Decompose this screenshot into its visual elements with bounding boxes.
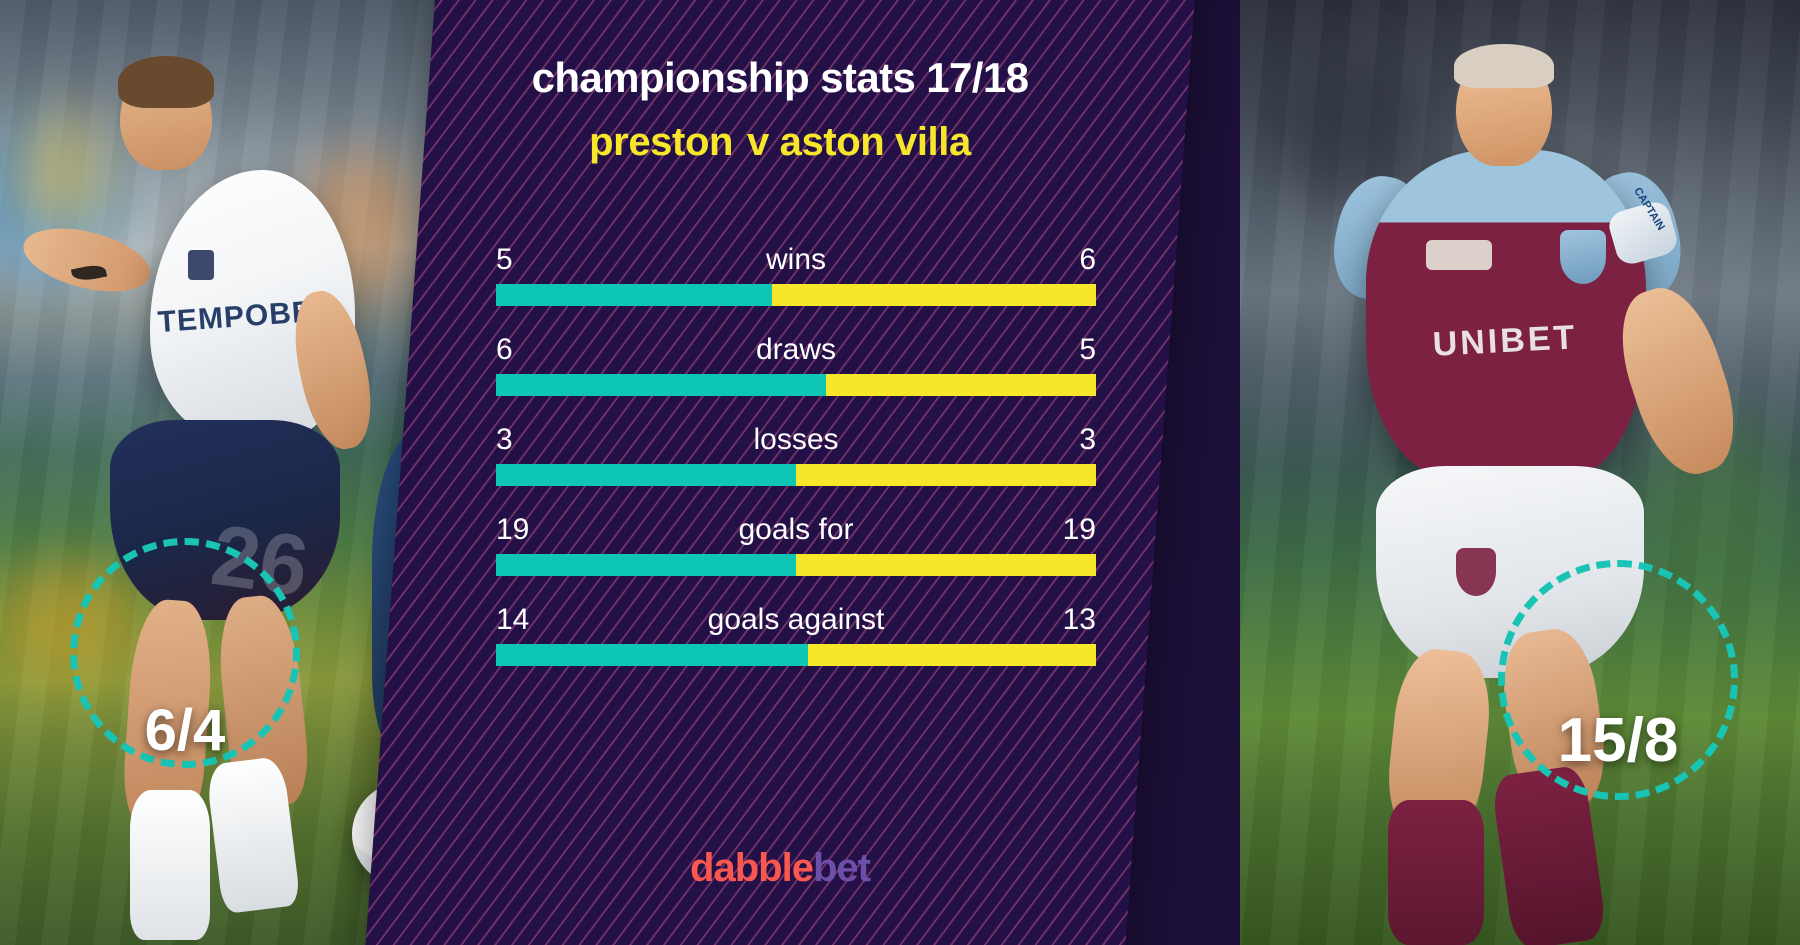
stat-bar xyxy=(496,464,1096,486)
stat-bar-home-segment xyxy=(496,644,808,666)
stat-bar xyxy=(496,554,1096,576)
stat-row: 19goals for19 xyxy=(496,508,1096,598)
stat-bar-home-segment xyxy=(496,374,826,396)
stat-row: 3losses3 xyxy=(496,418,1096,508)
matchup-subtitle: prestonv aston villa xyxy=(400,120,1160,165)
player-right-sock-a xyxy=(1388,800,1484,945)
shorts-crest-icon xyxy=(1456,548,1496,596)
stat-row: 5wins6 xyxy=(496,238,1096,328)
logo-text-primary: dabble xyxy=(690,846,813,890)
stats-panel-content: championship stats 17/18 prestonv aston … xyxy=(400,0,1160,945)
stat-bar-away-segment xyxy=(808,644,1096,666)
stat-bar xyxy=(496,374,1096,396)
stat-away-value: 5 xyxy=(1079,328,1096,372)
crowd-blur-b xyxy=(18,112,108,232)
stat-away-value: 3 xyxy=(1079,418,1096,462)
stat-bar-away-segment xyxy=(796,554,1096,576)
stat-label: wins xyxy=(496,238,1096,282)
stat-bar-away-segment xyxy=(772,284,1096,306)
club-crest-icon-left xyxy=(188,250,214,280)
stat-bar-away-segment xyxy=(796,464,1096,486)
stat-bar xyxy=(496,644,1096,666)
stat-away-value: 19 xyxy=(1063,508,1096,552)
graphic-canvas: TEMPOBET 26 UNIBET CAPTAIN 6 xyxy=(0,0,1800,945)
stat-bar-home-segment xyxy=(496,284,772,306)
subtitle-vs: v xyxy=(747,120,769,164)
kit-logo-right xyxy=(1426,240,1492,270)
stat-bar-home-segment xyxy=(496,554,796,576)
stat-line: 6draws5 xyxy=(496,328,1096,374)
page-title: championship stats 17/18 xyxy=(400,54,1160,102)
subtitle-home-team: preston xyxy=(589,120,733,164)
stat-bar xyxy=(496,284,1096,306)
stat-bar-away-segment xyxy=(826,374,1096,396)
stat-label: losses xyxy=(496,418,1096,462)
player-right-hair xyxy=(1454,44,1554,88)
subtitle-away-team: aston villa xyxy=(780,120,971,164)
stat-line: 14goals against13 xyxy=(496,598,1096,644)
stat-line: 5wins6 xyxy=(496,238,1096,284)
annotation-circle-left: 6/4 xyxy=(70,538,300,768)
brand-logo: dabblebet xyxy=(400,846,1160,891)
stat-away-value: 6 xyxy=(1079,238,1096,282)
stats-list: 5wins66draws53losses319goals for1914goal… xyxy=(496,238,1096,688)
club-crest-icon-right xyxy=(1560,230,1606,284)
stat-away-value: 13 xyxy=(1063,598,1096,642)
player-left-sock-a xyxy=(130,790,210,940)
stat-label: draws xyxy=(496,328,1096,372)
player-left-hair xyxy=(118,56,214,108)
annotation-circle-right: 15/8 xyxy=(1498,560,1738,800)
logo-text-secondary: bet xyxy=(813,846,870,890)
stat-line: 19goals for19 xyxy=(496,508,1096,554)
stat-row: 14goals against13 xyxy=(496,598,1096,688)
player-photo-right: UNIBET CAPTAIN xyxy=(1240,0,1800,945)
annotation-score-right: 15/8 xyxy=(1498,705,1738,776)
stat-line: 3losses3 xyxy=(496,418,1096,464)
stat-row: 6draws5 xyxy=(496,328,1096,418)
stat-label: goals for xyxy=(496,508,1096,552)
stat-bar-home-segment xyxy=(496,464,796,486)
stat-label: goals against xyxy=(496,598,1096,642)
annotation-score-left: 6/4 xyxy=(70,697,300,764)
